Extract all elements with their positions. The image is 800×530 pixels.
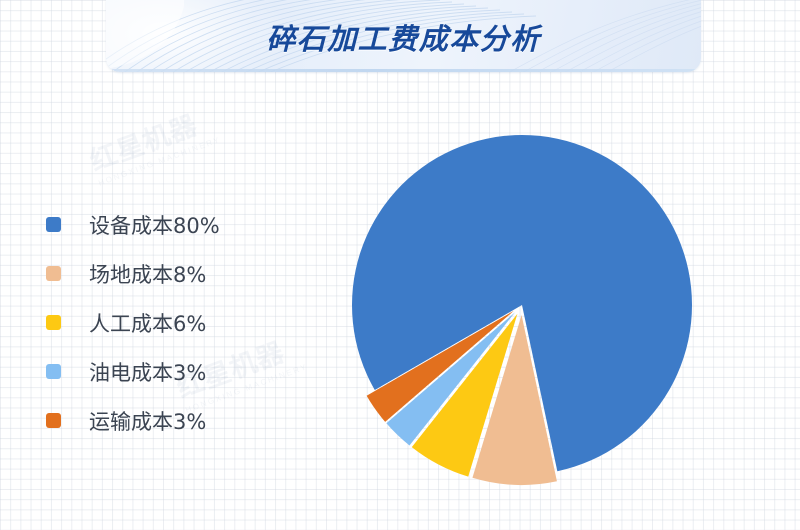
legend-swatch-icon [46,315,61,330]
legend-item[interactable]: 运输成本3% [46,396,296,445]
chart-legend: 设备成本80% 场地成本8% 人工成本6% 油电成本3% 运输成本3% [46,200,296,445]
legend-item-label: 人工成本6% [89,308,206,338]
legend-swatch-icon [46,266,61,281]
legend-item[interactable]: 人工成本6% [46,298,296,347]
page-title: 碎石加工费成本分析 [106,16,701,58]
legend-swatch-icon [46,217,61,232]
watermark-brand: 红星机器 HONGXING MACHINERY [84,97,223,187]
legend-item-label: 场地成本8% [89,259,206,289]
legend-item-label: 设备成本80% [89,210,220,240]
legend-item-label: 油电成本3% [89,357,206,387]
page-root: 红星机器 HONGXING MACHINERY 红星机器 HONGXING MA… [0,0,800,530]
legend-swatch-icon [46,413,61,428]
pie-chart [330,110,730,510]
legend-item[interactable]: 设备成本80% [46,200,296,249]
pie-chart-svg [330,110,730,510]
legend-swatch-icon [46,364,61,379]
legend-item[interactable]: 油电成本3% [46,347,296,396]
legend-item[interactable]: 场地成本8% [46,249,296,298]
title-banner: 碎石加工费成本分析 [106,0,701,72]
banner-underline [106,69,701,72]
legend-item-label: 运输成本3% [89,406,206,436]
